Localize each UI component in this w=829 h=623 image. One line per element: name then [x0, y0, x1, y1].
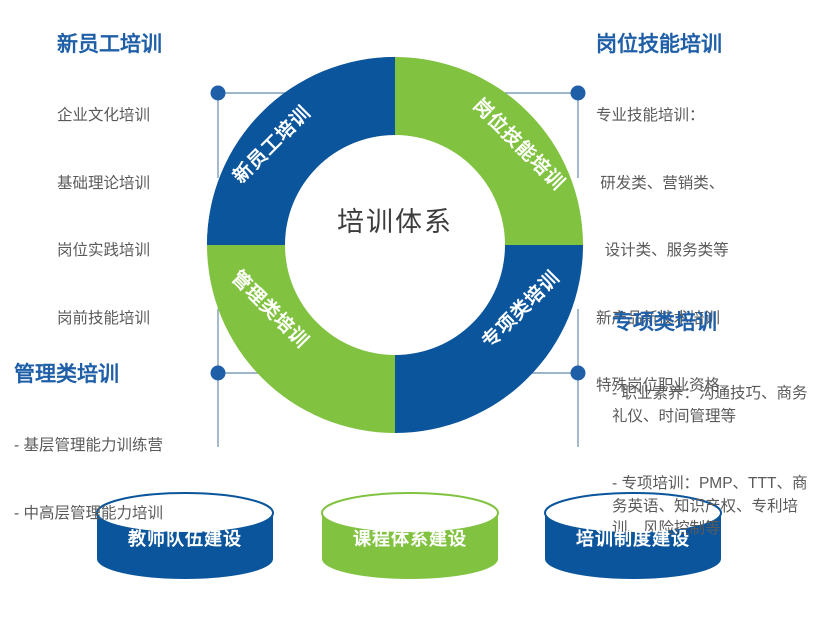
callout-line: 企业文化培训 [57, 105, 162, 128]
cylinder-label-courses: 课程体系建设 [320, 525, 500, 551]
cylinder-label-policy: 培训制度建设 [543, 525, 723, 551]
callout-line: - 职业素养：沟通技巧、商务礼仪、时间管理等 [612, 383, 817, 428]
callout-line: 岗前技能培训 [57, 308, 162, 331]
donut-center-label: 培训体系 [315, 200, 475, 239]
connector-dot-new-employee [211, 86, 226, 101]
diagram-canvas: #BCDCFA [0, 0, 829, 623]
callout-line: 基础理论培训 [57, 173, 162, 196]
connector-dot-job-skill [571, 86, 586, 101]
callout-line: 设计类、服务类等 [596, 240, 729, 263]
cylinder-label-teachers: 教师队伍建设 [95, 525, 275, 551]
connector-dot-management [211, 366, 226, 381]
callout-line: 岗位实践培训 [57, 240, 162, 263]
callout-title-special: 专项类培训 [612, 308, 817, 338]
donut-hole [285, 135, 505, 355]
callout-line: 研发类、营销类、 [596, 173, 729, 196]
callout-title-job-skill: 岗位技能培训 [596, 30, 729, 60]
callout-line: - 基层管理能力训练营 [14, 435, 163, 458]
callout-title-management: 管理类培训 [14, 360, 163, 390]
callout-line: - 中高层管理能力培训 [14, 503, 163, 526]
connector-dot-special [571, 366, 586, 381]
callout-line: 专业技能培训： [596, 105, 729, 128]
callout-new-employee: 新员工培训 企业文化培训 基础理论培训 岗位实践培训 岗前技能培训 [57, 30, 162, 375]
callout-body-new-employee: 企业文化培训 基础理论培训 岗位实践培训 岗前技能培训 [57, 60, 162, 375]
platform-arrow-label: 依托公司平台 [300, 455, 530, 487]
callout-title-new-employee: 新员工培训 [57, 30, 162, 60]
training-donut [207, 57, 583, 433]
